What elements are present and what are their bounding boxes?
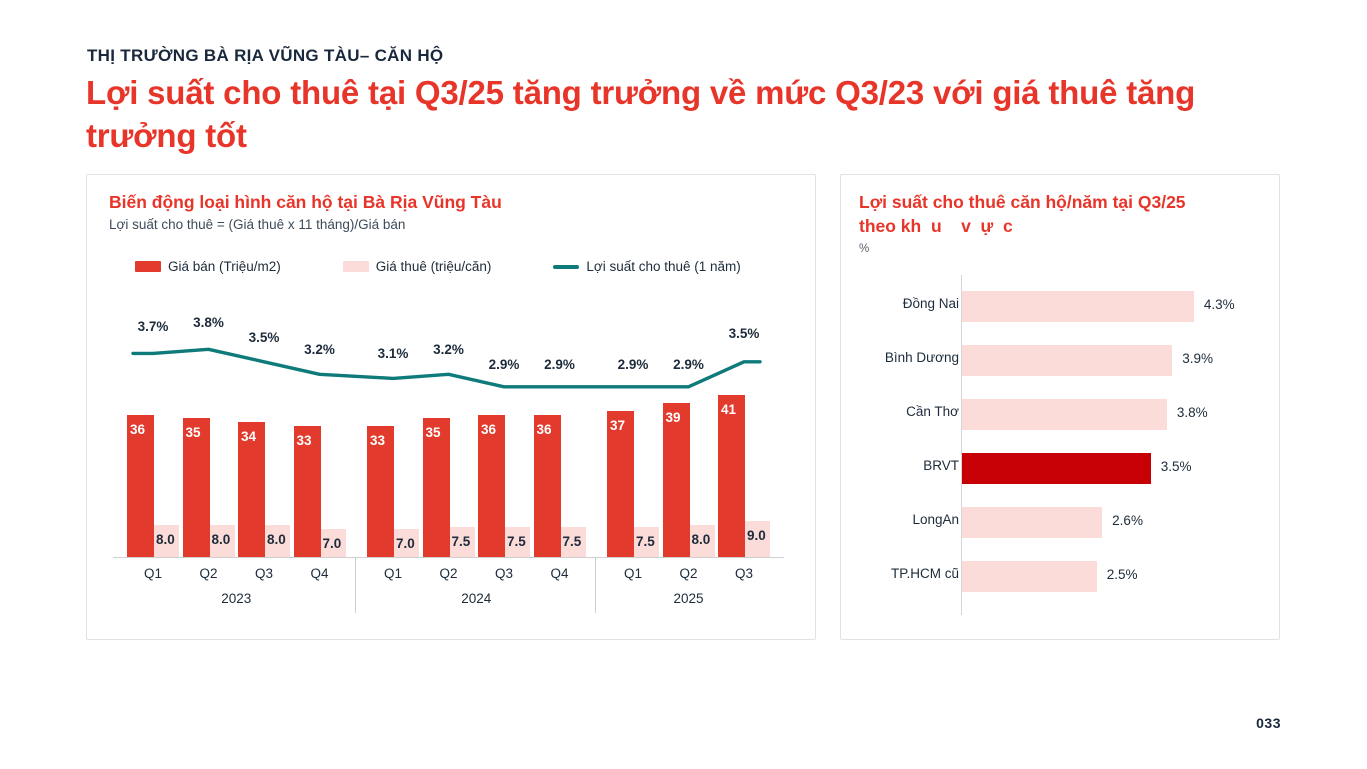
region-value-label: 2.5% bbox=[1107, 567, 1138, 582]
right-chart-title-line2: theo kh u v ự c bbox=[859, 215, 1259, 238]
yield-value-label: 3.2% bbox=[304, 342, 335, 357]
yield-value-label: 3.7% bbox=[138, 319, 169, 334]
region-bar[interactable] bbox=[962, 345, 1172, 376]
axis-quarter-label: Q1 bbox=[384, 566, 402, 581]
region-value-label: 2.6% bbox=[1112, 513, 1143, 528]
left-chart-subtitle: Lợi suất cho thuê = (Giá thuê x 11 tháng… bbox=[109, 217, 749, 232]
bar-value-label-gia-thue: 7.0 bbox=[323, 536, 342, 551]
bar-value-label-gia-ban: 37 bbox=[610, 418, 625, 433]
region-category-label: Bình Dương bbox=[885, 350, 959, 365]
axis-quarter-label: Q3 bbox=[495, 566, 513, 581]
axis-quarter-label: Q2 bbox=[439, 566, 457, 581]
bar-value-label-gia-thue: 7.5 bbox=[452, 534, 471, 549]
region-category-label: Đồng Nai bbox=[903, 296, 959, 311]
region-bar[interactable] bbox=[962, 399, 1167, 430]
yield-value-label: 3.1% bbox=[378, 346, 409, 361]
bar-value-label-gia-ban: 33 bbox=[297, 433, 312, 448]
bar-gia-ban[interactable] bbox=[663, 403, 690, 557]
left-chart-title: Biến động loại hình căn hộ tại Bà Rịa Vũ… bbox=[109, 191, 749, 214]
bar-value-label-gia-thue: 8.0 bbox=[156, 532, 175, 547]
page-number: 033 bbox=[1256, 715, 1281, 731]
legend-label: Lợi suất cho thuê (1 năm) bbox=[586, 259, 740, 274]
bar-value-label-gia-thue: 7.5 bbox=[507, 534, 526, 549]
bar-value-label-gia-thue: 7.5 bbox=[636, 534, 655, 549]
right-chart-title-line1: Lợi suất cho thuê căn hộ/năm tại Q3/25 bbox=[859, 191, 1259, 214]
region-category-label: LongAn bbox=[912, 512, 959, 527]
region-bar[interactable] bbox=[962, 561, 1097, 592]
bar-value-label-gia-thue: 7.5 bbox=[563, 534, 582, 549]
right-chart-panel: Lợi suất cho thuê căn hộ/năm tại Q3/25 t… bbox=[840, 174, 1280, 640]
axis-quarter-label: Q1 bbox=[144, 566, 162, 581]
region-bar-highlighted[interactable] bbox=[962, 453, 1151, 484]
legend-swatch-icon bbox=[343, 261, 369, 272]
bar-value-label-gia-ban: 35 bbox=[186, 425, 201, 440]
region-value-label: 3.8% bbox=[1177, 405, 1208, 420]
legend-line-icon bbox=[553, 265, 579, 269]
region-category-label: BRVT bbox=[923, 458, 959, 473]
region-bar-row: LongAn2.6% bbox=[841, 507, 1281, 538]
axis-group-separator bbox=[355, 558, 356, 613]
axis-quarter-label: Q4 bbox=[310, 566, 328, 581]
region-value-label: 3.9% bbox=[1182, 351, 1213, 366]
axis-quarter-label: Q3 bbox=[255, 566, 273, 581]
bar-value-label-gia-ban: 33 bbox=[370, 433, 385, 448]
axis-quarter-label: Q2 bbox=[679, 566, 697, 581]
bar-value-label-gia-ban: 36 bbox=[130, 422, 145, 437]
region-value-label: 4.3% bbox=[1204, 297, 1235, 312]
region-bar[interactable] bbox=[962, 291, 1194, 322]
axis-quarter-label: Q4 bbox=[550, 566, 568, 581]
region-category-label: TP.HCM cũ bbox=[891, 566, 959, 581]
bar-value-label-gia-ban: 41 bbox=[721, 402, 736, 417]
bar-value-label-gia-ban: 36 bbox=[537, 422, 552, 437]
bar-value-label-gia-ban: 34 bbox=[241, 429, 256, 444]
right-chart-plot: Đồng Nai4.3%Bình Dương3.9%Cần Thơ3.8%BRV… bbox=[841, 285, 1281, 615]
axis-quarter-label: Q2 bbox=[199, 566, 217, 581]
region-bar-row: TP.HCM cũ2.5% bbox=[841, 561, 1281, 592]
left-chart-plot: 368.0358.0348.0337.0337.0357.5367.5367.5… bbox=[109, 295, 799, 613]
region-value-label: 3.5% bbox=[1161, 459, 1192, 474]
slide-headline: Lợi suất cho thuê tại Q3/25 tăng trưởng … bbox=[86, 72, 1266, 158]
yield-value-label: 2.9% bbox=[489, 357, 520, 372]
yield-value-label: 3.5% bbox=[249, 330, 280, 345]
region-bar-row: Cần Thơ3.8% bbox=[841, 399, 1281, 430]
bar-value-label-gia-ban: 35 bbox=[426, 425, 441, 440]
bar-value-label-gia-thue: 7.0 bbox=[396, 536, 415, 551]
axis-year-label: 2024 bbox=[461, 591, 491, 606]
yield-value-label: 2.9% bbox=[544, 357, 575, 372]
yield-value-label: 3.8% bbox=[193, 315, 224, 330]
legend-item-gia-thue[interactable]: Giá thuê (triệu/căn) bbox=[343, 259, 492, 274]
axis-year-label: 2025 bbox=[673, 591, 703, 606]
region-bar-row: Đồng Nai4.3% bbox=[841, 291, 1281, 322]
axis-quarter-label: Q3 bbox=[735, 566, 753, 581]
slide-root: THỊ TRƯỜNG BÀ RỊA VŨNG TÀU– CĂN HỘ Lợi s… bbox=[0, 0, 1367, 769]
legend-swatch-icon bbox=[135, 261, 161, 272]
bar-gia-ban[interactable] bbox=[718, 395, 745, 557]
legend-label: Giá bán (Triệu/m2) bbox=[168, 259, 281, 274]
yield-value-label: 2.9% bbox=[618, 357, 649, 372]
legend-item-loi-suat[interactable]: Lợi suất cho thuê (1 năm) bbox=[553, 259, 740, 274]
bar-value-label-gia-thue: 8.0 bbox=[692, 532, 711, 547]
bar-value-label-gia-thue: 9.0 bbox=[747, 528, 766, 543]
bar-value-label-gia-ban: 39 bbox=[666, 410, 681, 425]
left-chart-legend: Giá bán (Triệu/m2) Giá thuê (triệu/căn) … bbox=[135, 259, 741, 274]
right-chart-unit-label: % bbox=[859, 243, 869, 255]
left-chart-panel: Biến động loại hình căn hộ tại Bà Rịa Vũ… bbox=[86, 174, 816, 640]
bar-value-label-gia-ban: 36 bbox=[481, 422, 496, 437]
region-bar[interactable] bbox=[962, 507, 1102, 538]
region-category-label: Cần Thơ bbox=[906, 404, 959, 419]
yield-value-label: 3.5% bbox=[729, 326, 760, 341]
axis-year-label: 2023 bbox=[221, 591, 251, 606]
region-bar-row: BRVT3.5% bbox=[841, 453, 1281, 484]
region-bar-row: Bình Dương3.9% bbox=[841, 345, 1281, 376]
bar-value-label-gia-thue: 8.0 bbox=[267, 532, 286, 547]
yield-value-label: 2.9% bbox=[673, 357, 704, 372]
axis-quarter-label: Q1 bbox=[624, 566, 642, 581]
bar-value-label-gia-thue: 8.0 bbox=[212, 532, 231, 547]
slide-kicker: THỊ TRƯỜNG BÀ RỊA VŨNG TÀU– CĂN HỘ bbox=[87, 46, 443, 66]
legend-item-gia-ban[interactable]: Giá bán (Triệu/m2) bbox=[135, 259, 281, 274]
legend-label: Giá thuê (triệu/căn) bbox=[376, 259, 492, 274]
left-chart-x-axis: 202320242025Q1Q2Q3Q4Q1Q2Q3Q4Q1Q2Q3 bbox=[113, 557, 784, 613]
axis-group-separator bbox=[595, 558, 596, 613]
yield-value-label: 3.2% bbox=[433, 342, 464, 357]
